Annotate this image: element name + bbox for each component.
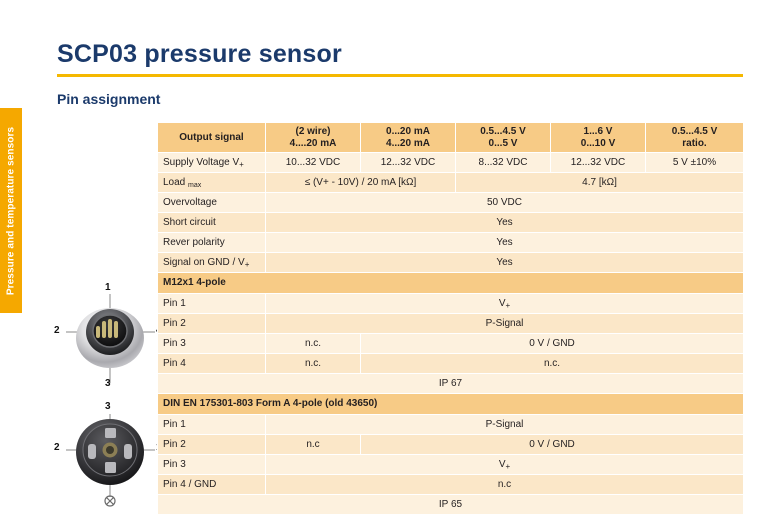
cell-rever-polarity-value: Yes bbox=[266, 233, 744, 253]
table-row: Pin 4 / GND n.c bbox=[158, 475, 744, 495]
row-label-din-pin1: Pin 1 bbox=[158, 415, 266, 435]
m12-pin-number-bottom: 3 bbox=[105, 378, 111, 389]
cell-overvoltage-value: 50 VDC bbox=[266, 193, 744, 213]
table-row: Pin 1 P-Signal bbox=[158, 415, 744, 435]
row-label-supply-voltage: Supply Voltage V+ bbox=[158, 153, 266, 173]
header-line2: 0...10 V bbox=[555, 138, 641, 150]
cell-m12-pin2-value: P-Signal bbox=[266, 314, 744, 334]
din-connector-diagram: 3 2 1 bbox=[58, 400, 163, 510]
header-cell-ratiometric: 0.5...4.5 V ratio. bbox=[646, 123, 744, 153]
row-label-m12-pin3: Pin 3 bbox=[158, 334, 266, 354]
row-label-din-pin4-gnd: Pin 4 / GND bbox=[158, 475, 266, 495]
title-underline-rule bbox=[57, 74, 743, 77]
row-label-overvoltage: Overvoltage bbox=[158, 193, 266, 213]
header-cell-2wire: (2 wire) 4....20 mA bbox=[266, 123, 361, 153]
cell-din-pin2-nc: n.c bbox=[266, 435, 361, 455]
m12-pin-number-top: 1 bbox=[105, 282, 111, 293]
table-row: Overvoltage 50 VDC bbox=[158, 193, 744, 213]
cell-din-pin3-value: V+ bbox=[266, 455, 744, 475]
din-pin-number-left: 2 bbox=[54, 442, 60, 453]
cell-din-pin2-gnd: 0 V / GND bbox=[361, 435, 744, 455]
m12-connector-image bbox=[58, 286, 163, 391]
cell-m12-pin4-nc: n.c. bbox=[266, 354, 361, 374]
m12-connector-diagram: 1 2 4 3 bbox=[58, 286, 163, 391]
header-cell-output-signal: Output signal bbox=[158, 123, 266, 153]
table-row: Pin 4 n.c. n.c. bbox=[158, 354, 744, 374]
cell-supply-0-20ma: 12...32 VDC bbox=[361, 153, 456, 173]
section-header-din-label: DIN EN 175301-803 Form A 4-pole (old 436… bbox=[158, 394, 744, 415]
m12-pin-number-left: 2 bbox=[54, 325, 60, 336]
table-row: Signal on GND / V+ Yes bbox=[158, 253, 744, 273]
cell-m12-pin4-nc2: n.c. bbox=[361, 354, 744, 374]
row-label-din-pin3: Pin 3 bbox=[158, 455, 266, 475]
table-row: Pin 1 V+ bbox=[158, 294, 744, 314]
header-line1: (2 wire) bbox=[270, 126, 356, 138]
header-line2: 4...20 mA bbox=[365, 138, 451, 150]
row-label-signal-on-gnd: Signal on GND / V+ bbox=[158, 253, 266, 273]
din-connector-image bbox=[58, 400, 163, 510]
header-line1: 0...20 mA bbox=[365, 126, 451, 138]
header-cell-05-45v: 0.5...4.5 V 0...5 V bbox=[456, 123, 551, 153]
table-row: Pin 3 n.c. 0 V / GND bbox=[158, 334, 744, 354]
row-label-rever-polarity: Rever polarity bbox=[158, 233, 266, 253]
cell-ip-rating-din: IP 65 bbox=[158, 495, 744, 515]
table-row: Pin 2 P-Signal bbox=[158, 314, 744, 334]
row-label-short-circuit: Short circuit bbox=[158, 213, 266, 233]
cell-din-pin4-value: n.c bbox=[266, 475, 744, 495]
header-cell-0-20ma: 0...20 mA 4...20 mA bbox=[361, 123, 456, 153]
header-cell-1-6v: 1...6 V 0...10 V bbox=[551, 123, 646, 153]
section-header-m12: M12x1 4-pole bbox=[158, 273, 744, 294]
sidebar-category-label: Pressure and temperature sensors bbox=[6, 126, 17, 294]
section-header-m12-label: M12x1 4-pole bbox=[158, 273, 744, 294]
header-line2: 0...5 V bbox=[460, 138, 546, 150]
cell-ip-rating-m12: IP 67 bbox=[158, 374, 744, 394]
table-row-ip-rating-m12: IP 67 bbox=[158, 374, 744, 394]
header-line1: 0.5...4.5 V bbox=[460, 126, 546, 138]
header-line1: 1...6 V bbox=[555, 126, 641, 138]
row-label-m12-pin1: Pin 1 bbox=[158, 294, 266, 314]
table-row-ip-rating-din: IP 65 bbox=[158, 495, 744, 515]
row-label-din-pin2: Pin 2 bbox=[158, 435, 266, 455]
cell-supply-05-45v: 8...32 VDC bbox=[456, 153, 551, 173]
header-line2: ratio. bbox=[650, 138, 739, 150]
row-label-load-max: Load max bbox=[158, 173, 266, 193]
pin-assignment-table: Output signal (2 wire) 4....20 mA 0...20… bbox=[157, 122, 744, 515]
cell-m12-pin1-value: V+ bbox=[266, 294, 744, 314]
din-pin-number-top: 3 bbox=[105, 401, 111, 412]
section-header-din: DIN EN 175301-803 Form A 4-pole (old 436… bbox=[158, 394, 744, 415]
header-line1: 0.5...4.5 V bbox=[650, 126, 739, 138]
table-header-row: Output signal (2 wire) 4....20 mA 0...20… bbox=[158, 123, 744, 153]
cell-signal-on-gnd-value: Yes bbox=[266, 253, 744, 273]
table-row: Pin 2 n.c 0 V / GND bbox=[158, 435, 744, 455]
cell-load-voltage-out: 4.7 [kΩ] bbox=[456, 173, 744, 193]
row-label-m12-pin4: Pin 4 bbox=[158, 354, 266, 374]
sidebar-category-tab[interactable]: Pressure and temperature sensors bbox=[0, 108, 22, 313]
cell-supply-ratio: 5 V ±10% bbox=[646, 153, 744, 173]
page-title: SCP03 pressure sensor bbox=[57, 40, 342, 69]
cell-supply-1-6v: 12...32 VDC bbox=[551, 153, 646, 173]
table-row: Supply Voltage V+ 10...32 VDC 12...32 VD… bbox=[158, 153, 744, 173]
table-row: Pin 3 V+ bbox=[158, 455, 744, 475]
cell-m12-pin3-gnd: 0 V / GND bbox=[361, 334, 744, 354]
cell-m12-pin3-nc: n.c. bbox=[266, 334, 361, 354]
table-row: Rever polarity Yes bbox=[158, 233, 744, 253]
cell-din-pin1-value: P-Signal bbox=[266, 415, 744, 435]
header-line2: 4....20 mA bbox=[270, 138, 356, 150]
section-title: Pin assignment bbox=[57, 91, 160, 107]
cell-supply-2wire: 10...32 VDC bbox=[266, 153, 361, 173]
table-row: Short circuit Yes bbox=[158, 213, 744, 233]
table-row: Load max ≤ (V+ - 10V) / 20 mA [kΩ] 4.7 [… bbox=[158, 173, 744, 193]
cell-load-current-loop: ≤ (V+ - 10V) / 20 mA [kΩ] bbox=[266, 173, 456, 193]
cell-short-circuit-value: Yes bbox=[266, 213, 744, 233]
header-line1: Output signal bbox=[179, 132, 243, 143]
row-label-m12-pin2: Pin 2 bbox=[158, 314, 266, 334]
